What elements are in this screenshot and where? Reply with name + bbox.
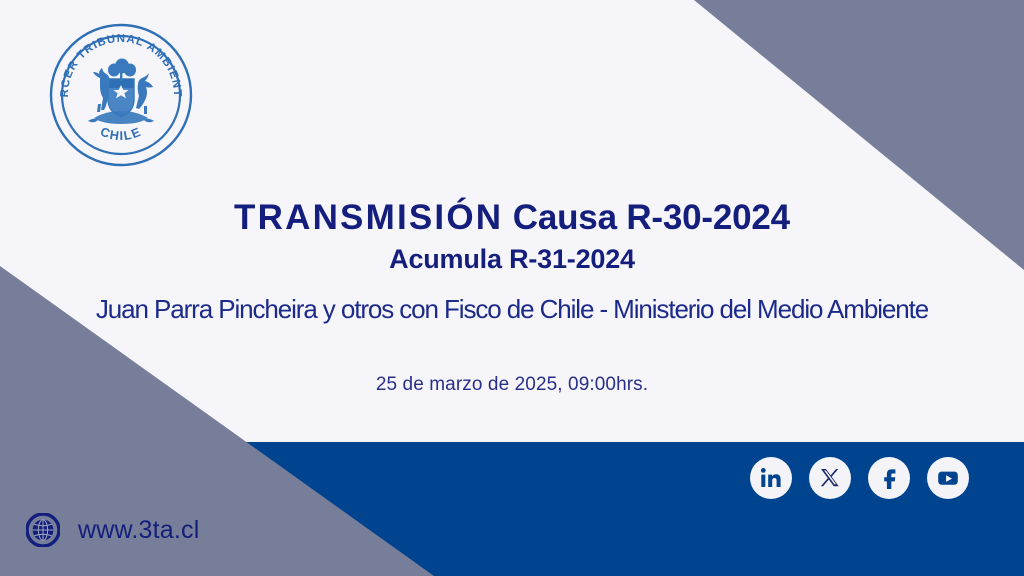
svg-text:CHILE: CHILE (98, 125, 144, 144)
title-block: TRANSMISIÓN Causa R-30-2024 Acumula R-31… (0, 196, 1024, 398)
session-datetime: 25 de marzo de 2025, 09:00hrs. (0, 372, 1024, 398)
facebook-icon[interactable] (868, 457, 910, 499)
case-parties: Juan Parra Pincheira y otros con Fisco d… (0, 292, 1024, 326)
website-url: www.3ta.cl (78, 513, 199, 547)
title-keyword: TRANSMISIÓN (234, 198, 503, 237)
youtube-icon[interactable] (927, 457, 969, 499)
x-twitter-icon[interactable] (809, 457, 851, 499)
globe-icon (26, 513, 60, 547)
page-title: TRANSMISIÓN Causa R-30-2024 (0, 196, 1024, 240)
linkedin-icon[interactable] (750, 457, 792, 499)
title-case: Causa R-30-2024 (513, 198, 790, 237)
broadcast-slide: TERCER TRIBUNAL AMBIENTAL CHILE (0, 0, 1024, 576)
page-subtitle: Acumula R-31-2024 (0, 242, 1024, 276)
website-footer[interactable]: www.3ta.cl (26, 513, 199, 547)
institution-logo: TERCER TRIBUNAL AMBIENTAL CHILE (48, 22, 194, 168)
social-links (750, 455, 969, 501)
